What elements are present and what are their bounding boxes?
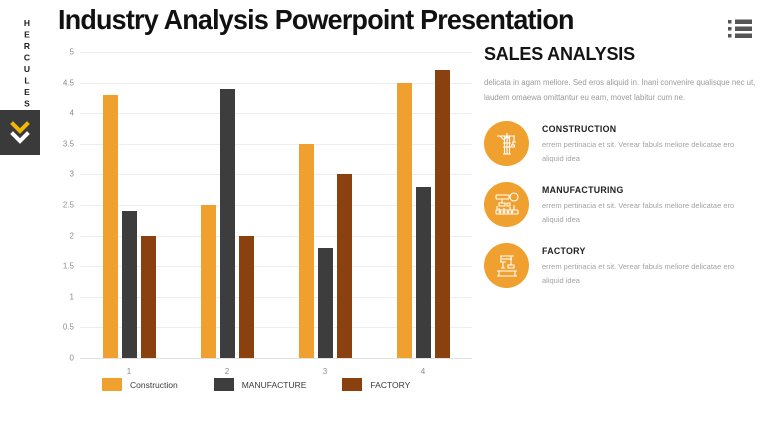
bar[interactable] — [141, 236, 156, 358]
legend-swatch — [102, 378, 122, 391]
x-axis-tick: 2 — [225, 367, 229, 376]
bar[interactable] — [337, 174, 352, 358]
y-axis-tick: 2 — [70, 231, 74, 240]
feature-text: FACTORYerrem pertinacia et sit. Verear f… — [542, 243, 756, 288]
gridline: 0 — [80, 358, 472, 359]
chart-plot-area: 54.543.532.521.510.50 1234 — [80, 52, 472, 358]
feature-description: errem pertinacia et sit. Verear fabuls m… — [542, 138, 756, 166]
page-title: Industry Analysis Powerpoint Presentatio… — [58, 4, 574, 36]
section-intro-text: delicata in agam meliore. Sed eros aliqu… — [484, 75, 756, 105]
legend-label: FACTORY — [370, 380, 410, 390]
y-axis-tick: 4 — [70, 109, 74, 118]
drill-press-icon — [484, 243, 529, 288]
bar[interactable] — [103, 95, 118, 358]
bar-group: 1 — [80, 52, 178, 358]
y-axis-tick: 3.5 — [63, 139, 74, 148]
legend-label: MANUFACTURE — [242, 380, 307, 390]
feature-title: MANUFACTURING — [542, 185, 756, 195]
bar[interactable] — [299, 144, 314, 358]
x-axis-tick: 4 — [421, 367, 425, 376]
legend-item[interactable]: MANUFACTURE — [214, 378, 307, 391]
bar-group: 2 — [178, 52, 276, 358]
feature-row[interactable]: CONSTRUCTIONerrem pertinacia et sit. Ver… — [484, 121, 756, 166]
y-axis-tick: 4.5 — [63, 78, 74, 87]
legend-swatch — [214, 378, 234, 391]
brand-name: HERCULES — [2, 18, 32, 110]
y-axis-tick: 3 — [70, 170, 74, 179]
sales-analysis-panel: SALES ANALYSIS delicata in agam meliore.… — [484, 44, 756, 288]
legend-label: Construction — [130, 380, 178, 390]
x-axis-tick: 1 — [127, 367, 131, 376]
legend-item[interactable]: FACTORY — [342, 378, 410, 391]
feature-text: CONSTRUCTIONerrem pertinacia et sit. Ver… — [542, 121, 756, 166]
bar[interactable] — [435, 70, 450, 358]
bar[interactable] — [220, 89, 235, 358]
bar[interactable] — [122, 211, 137, 358]
bar[interactable] — [239, 236, 254, 358]
section-heading: SALES ANALYSIS — [484, 44, 756, 65]
feature-list: CONSTRUCTIONerrem pertinacia et sit. Ver… — [484, 121, 756, 288]
bar[interactable] — [416, 187, 431, 358]
y-axis-tick: 0 — [70, 354, 74, 363]
sidebar-badge[interactable] — [0, 110, 40, 155]
double-chevron-down-icon — [10, 121, 30, 145]
bar[interactable] — [318, 248, 333, 358]
y-axis-tick: 1 — [70, 292, 74, 301]
bar[interactable] — [201, 205, 216, 358]
y-axis-tick: 2.5 — [63, 201, 74, 210]
y-axis-tick: 0.5 — [63, 323, 74, 332]
bulleted-list-icon[interactable] — [728, 18, 752, 40]
factory-machine-icon — [484, 182, 529, 227]
feature-row[interactable]: MANUFACTURINGerrem pertinacia et sit. Ve… — [484, 182, 756, 227]
bar-group: 4 — [374, 52, 472, 358]
feature-description: errem pertinacia et sit. Verear fabuls m… — [542, 199, 756, 227]
feature-title: FACTORY — [542, 246, 756, 256]
chart-legend: ConstructionMANUFACTUREFACTORY — [102, 378, 410, 391]
legend-item[interactable]: Construction — [102, 378, 178, 391]
left-sidebar: HERCULES — [0, 0, 40, 432]
feature-row[interactable]: FACTORYerrem pertinacia et sit. Verear f… — [484, 243, 756, 288]
crane-icon — [484, 121, 529, 166]
y-axis-tick: 5 — [70, 48, 74, 57]
bar[interactable] — [397, 83, 412, 358]
feature-text: MANUFACTURINGerrem pertinacia et sit. Ve… — [542, 182, 756, 227]
legend-swatch — [342, 378, 362, 391]
feature-title: CONSTRUCTION — [542, 124, 756, 134]
feature-description: errem pertinacia et sit. Verear fabuls m… — [542, 260, 756, 288]
chart-bars: 1234 — [80, 52, 472, 358]
bar-group: 3 — [276, 52, 374, 358]
y-axis-tick: 1.5 — [63, 262, 74, 271]
bar-chart: 54.543.532.521.510.50 1234 ConstructionM… — [52, 48, 472, 408]
x-axis-tick: 3 — [323, 367, 327, 376]
